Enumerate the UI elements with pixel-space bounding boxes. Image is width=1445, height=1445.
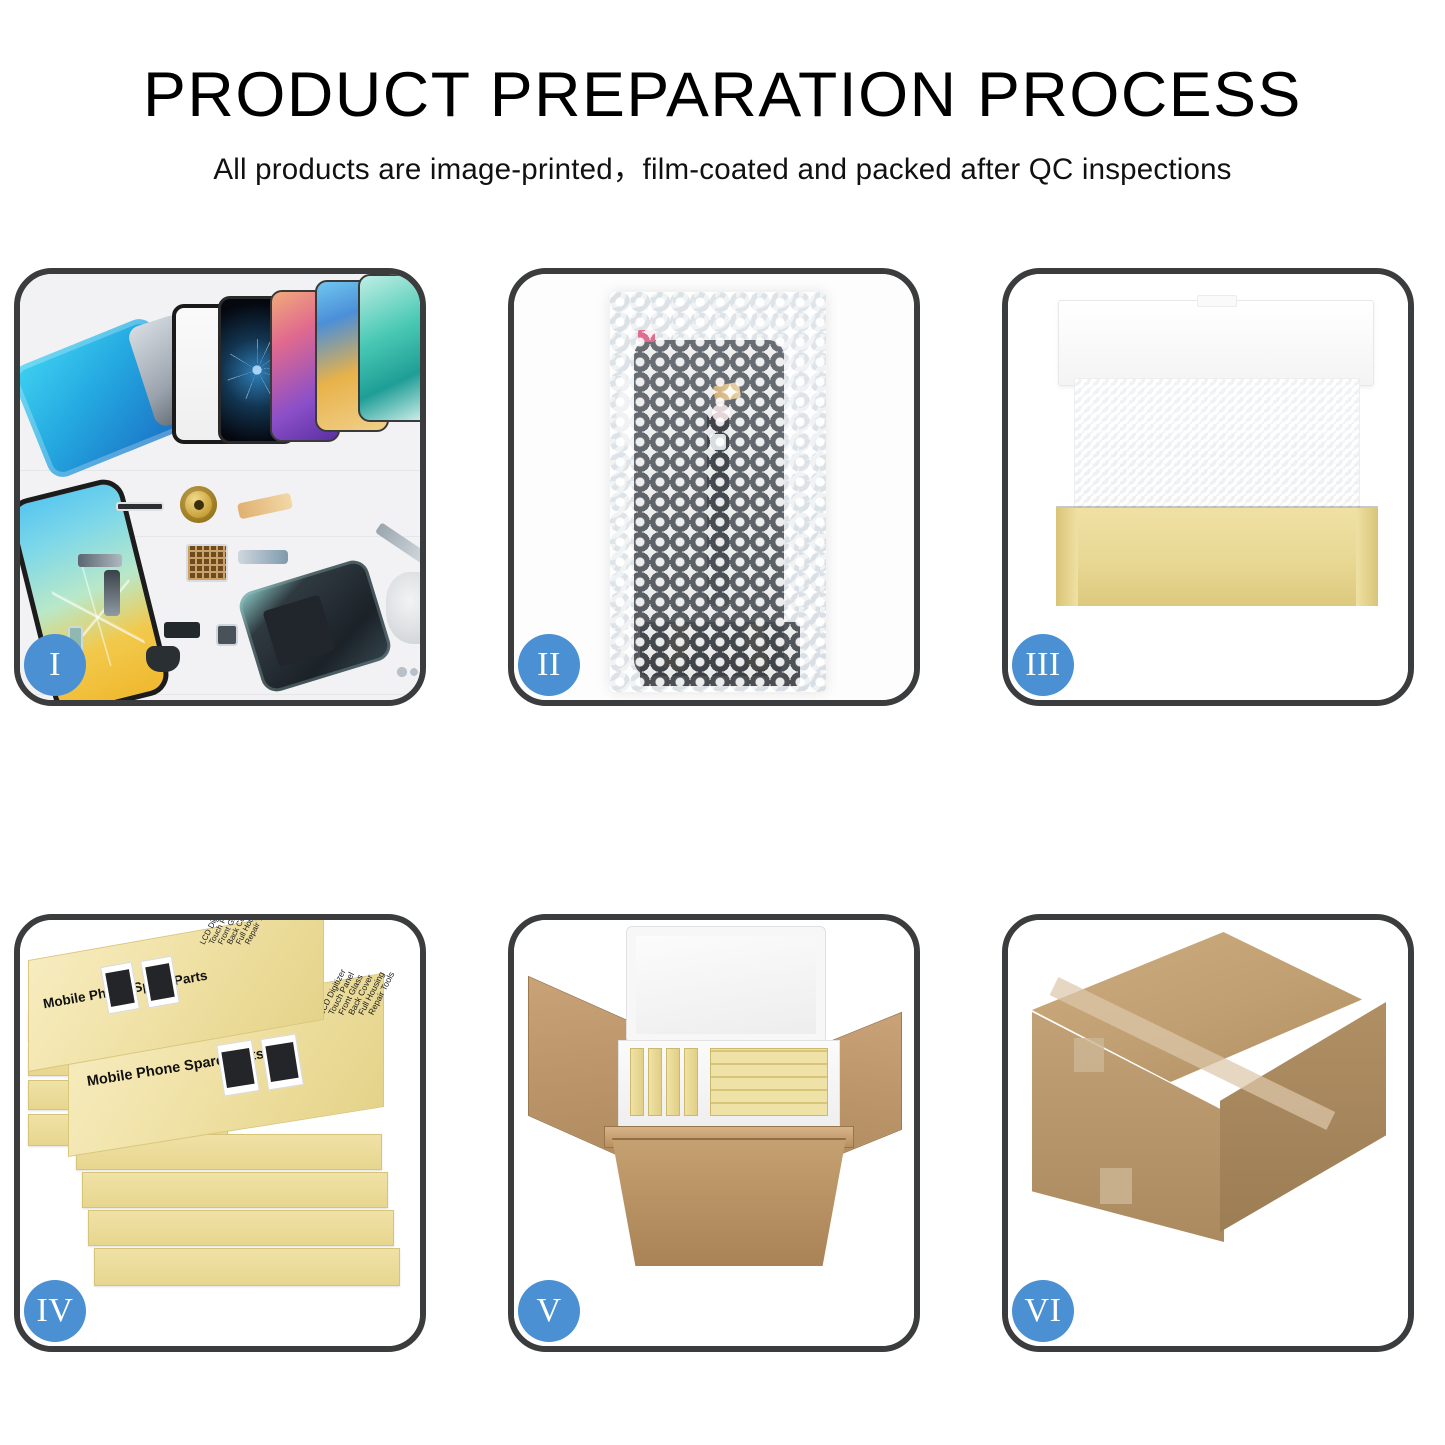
home-button-part <box>712 404 730 422</box>
step-badge: II <box>518 634 580 696</box>
packed-yellow-box <box>630 1048 644 1116</box>
pink-qc-sticker <box>638 330 655 342</box>
gold-contact-right <box>743 623 768 671</box>
gold-contact-top <box>712 382 740 402</box>
process-step-4: Mobile Phone Spare Parts LCD Digitizer T… <box>14 914 426 1352</box>
carton-body <box>612 1138 846 1266</box>
foam-lid <box>626 926 826 1044</box>
process-step-1: I <box>14 268 426 706</box>
stacked-boxes-scene: Mobile Phone Spare Parts LCD Digitizer T… <box>20 920 420 1346</box>
flex-cable-gold <box>237 493 293 520</box>
gloved-hand <box>386 572 420 644</box>
packed-yellow-box <box>648 1048 662 1116</box>
gold-speaker-part <box>180 486 217 523</box>
stacked-box-side <box>94 1248 400 1286</box>
packing-tape-lower <box>1100 1168 1132 1204</box>
tweezer-tool <box>375 522 420 573</box>
step-badge: I <box>24 634 86 696</box>
sealed-carton-scene <box>1008 920 1408 1346</box>
page-title: PRODUCT PREPARATION PROCESS <box>0 62 1445 128</box>
ic-chip-part <box>186 544 228 582</box>
step-2-image <box>514 274 914 700</box>
process-step-grid: I II <box>14 268 1434 1352</box>
lower-assembly-part <box>640 622 800 686</box>
phone-display-teal <box>358 274 420 422</box>
vibration-motor-part <box>146 646 180 672</box>
process-step-5: V <box>508 914 920 1352</box>
product-preparation-infographic: PRODUCT PREPARATION PROCESS All products… <box>0 0 1445 1445</box>
sensor-module-part <box>216 624 238 646</box>
gold-contact-left <box>663 623 691 672</box>
earpiece-part <box>116 502 164 511</box>
wrapped-phone-part <box>634 340 784 676</box>
step-badge: V <box>518 1280 580 1342</box>
stacked-box-side <box>82 1172 388 1208</box>
flex-cable-vertical <box>104 570 120 616</box>
step-5-image <box>514 920 914 1346</box>
step-badge: III <box>1012 634 1074 696</box>
carton-packing-scene <box>514 920 914 1346</box>
phone-parts-collage-scene <box>20 274 420 700</box>
bubble-wrap-bag <box>610 292 826 692</box>
flex-cable-grey <box>78 554 122 567</box>
process-step-2: II <box>508 268 920 706</box>
camera-module-part <box>164 622 200 638</box>
packed-yellow-box <box>666 1048 680 1116</box>
adhesive-frame-part <box>20 314 193 481</box>
bubble-wrap-scene <box>514 274 914 700</box>
stacked-box-side <box>88 1210 394 1246</box>
open-mailer-scene <box>1008 274 1408 700</box>
step-3-image <box>1008 274 1408 700</box>
mailer-box-front-panel <box>1056 508 1378 606</box>
flex-cable-silver <box>238 550 288 564</box>
step-badge: VI <box>1012 1280 1074 1342</box>
process-step-6: VI <box>1002 914 1414 1352</box>
packed-yellow-box <box>684 1048 698 1116</box>
packed-yellow-box-group <box>710 1048 828 1116</box>
packing-tape-upper <box>1074 1038 1104 1072</box>
step-6-image <box>1008 920 1408 1346</box>
page-subtitle: All products are image-printed，film-coat… <box>0 146 1445 188</box>
main-flex-cable <box>707 410 729 606</box>
connector-part <box>710 434 726 450</box>
step-badge: IV <box>24 1280 86 1342</box>
phone-back-housing <box>236 557 395 696</box>
mailer-box-lid <box>1058 300 1374 386</box>
header: PRODUCT PREPARATION PROCESS All products… <box>0 0 1445 188</box>
screws-part <box>396 666 420 678</box>
step-1-image <box>20 274 420 700</box>
process-step-3: III <box>1002 268 1414 706</box>
step-4-image: Mobile Phone Spare Parts LCD Digitizer T… <box>20 920 420 1346</box>
white-foam-sheet <box>1074 378 1360 522</box>
